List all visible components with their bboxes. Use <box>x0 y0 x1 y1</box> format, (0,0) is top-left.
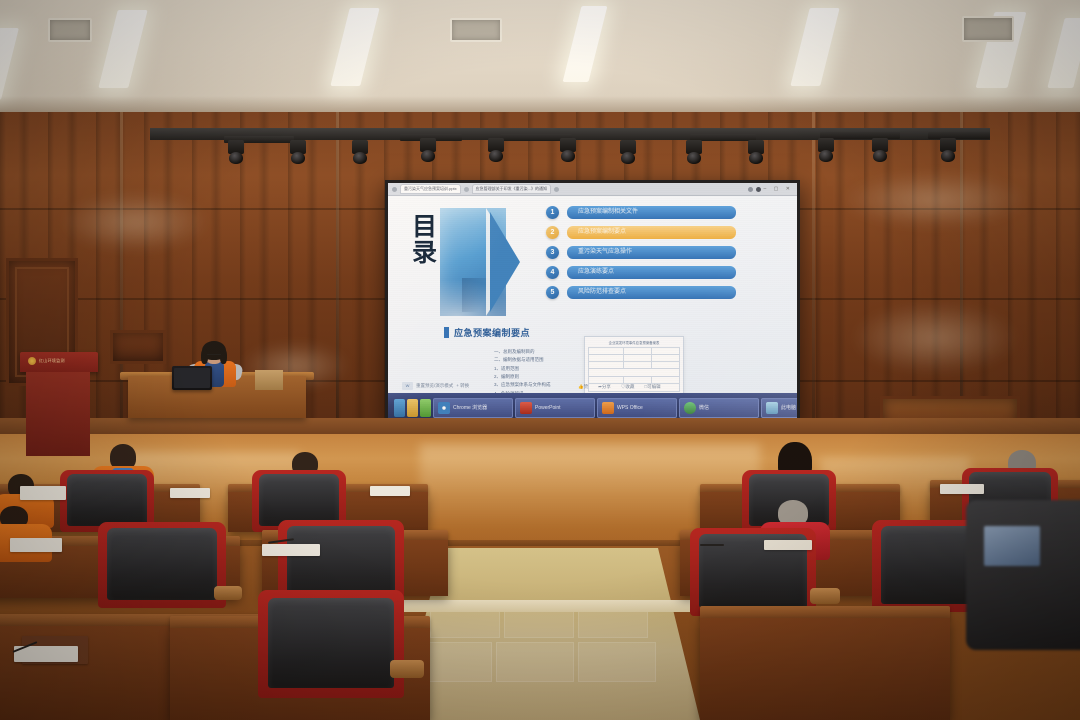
stage-spotlight <box>290 140 306 154</box>
browser-toolbar: 重污染天气应急预案培训.pptx 应急管理部关于印发《重污染...》的通知 – … <box>388 183 797 196</box>
toc-list: 1 应急预案编制相关文件 2 应急预案编制要点 3 重污染天气应急操作 4 应急… <box>546 206 736 306</box>
wps-icon <box>602 402 614 414</box>
document-sheet <box>170 488 210 498</box>
presenter-glasses <box>207 354 221 358</box>
podium-sign: 红山环境监测 <box>28 357 65 365</box>
cardboard-box <box>255 370 283 390</box>
toc-item-number: 1 <box>546 206 559 219</box>
stage-spotlight <box>488 138 504 152</box>
toc-item-label: 应急预案编制相关文件 <box>567 206 736 219</box>
powerpoint-icon <box>520 402 532 414</box>
thumbs-up-icon[interactable]: 👍赞 <box>578 384 588 390</box>
stage-spotlight <box>748 140 764 154</box>
screen-content: 重污染天气应急预案培训.pptx 应急管理部关于印发《重污染...》的通知 – … <box>388 183 797 419</box>
video-camera <box>966 500 1080 650</box>
document-sheet <box>20 486 66 500</box>
explorer-icon <box>766 402 778 414</box>
stage-spotlight <box>818 138 834 152</box>
conference-room-scene: 重污染天气应急预案培训.pptx 应急管理部关于印发《重污染...》的通知 – … <box>0 0 1080 720</box>
document-sheet <box>10 538 62 552</box>
window-controls[interactable]: – ▢ ✕ <box>764 186 793 192</box>
windows-taskbar: Chrome 浏览器 PowerPoint WPS Office 微信 此电脑 <box>388 393 797 419</box>
taskbar-window-label: 此电脑 <box>781 404 796 411</box>
ceiling-light <box>98 10 147 88</box>
presenter-hair-side <box>220 349 227 364</box>
aisle-threshold <box>404 600 696 612</box>
presenter-laptop <box>172 366 212 390</box>
toc-item-number: 2 <box>546 226 559 239</box>
led-projection-screen: 重污染天气应急预案培训.pptx 应急管理部关于印发《重污染...》的通知 – … <box>385 180 800 422</box>
spotlight-bar <box>928 132 990 139</box>
ie-icon[interactable] <box>394 399 405 417</box>
taskbar-window-label: PowerPoint <box>535 405 561 411</box>
hvac-vent-icon <box>450 18 502 42</box>
bullet-item: 1、适用范围 <box>494 365 551 373</box>
ceiling-light <box>330 8 379 86</box>
browser-tab-2[interactable]: 应急管理部关于印发《重污染...》的通知 <box>472 184 551 194</box>
slide-section-heading: 应急预案编制要点 <box>444 326 530 339</box>
fullscreen-icon[interactable]: □可编辑 <box>644 384 660 390</box>
browser-tab-2-label: 应急管理部关于印发《重污染...》的通知 <box>476 186 547 192</box>
stage-spotlight <box>686 140 702 154</box>
reaction-bar: 👍赞 ➦分享 ♡收藏 □可编辑 <box>578 384 661 390</box>
national-emblem-icon <box>28 357 36 365</box>
taskbar-window-label: WPS Office <box>617 405 643 411</box>
wechat-icon <box>684 402 696 414</box>
notepad <box>262 544 320 556</box>
bullet-item: 一、总则及编制目的 <box>494 348 551 356</box>
taskbar-window-wechat[interactable]: 微信 <box>679 398 759 418</box>
toc-item-number: 5 <box>546 286 559 299</box>
podium-top: 红山环境监测 <box>20 352 98 372</box>
audience-chair[interactable] <box>98 522 226 608</box>
document-sheet <box>940 484 984 494</box>
taskbar-window-chrome[interactable]: Chrome 浏览器 <box>433 398 513 418</box>
taskbar-window-explorer[interactable]: 此电脑 <box>761 398 797 418</box>
podium-body <box>26 372 90 456</box>
taskbar-window-label: Chrome 浏览器 <box>453 404 487 411</box>
tab-close-icon[interactable] <box>464 187 469 192</box>
presentation-slide: 目录 1 应急预案编制相关文件 2 应急预案编制要点 3 重污染天气应急操作 <box>388 196 797 393</box>
taskbar-window-wps[interactable]: WPS Office <box>597 398 677 418</box>
share-icon[interactable]: ➦分享 <box>598 384 611 390</box>
ceiling-light <box>563 6 608 82</box>
kebab-menu-icon[interactable] <box>756 187 761 192</box>
browser-tab-1[interactable]: 重污染天气应急预案培训.pptx <box>400 184 461 194</box>
toc-item[interactable]: 4 应急演练要点 <box>546 266 736 279</box>
toc-item-label: 风险防范排查要点 <box>567 286 736 299</box>
toc-arrow-graphic <box>440 208 532 316</box>
audience-chair[interactable] <box>258 590 404 698</box>
toc-item-number: 3 <box>546 246 559 259</box>
stage-spotlight <box>560 138 576 152</box>
quick-launch-bar <box>394 399 431 417</box>
wps-badge: W <box>402 382 413 390</box>
toc-item[interactable]: 2 应急预案编制要点 <box>546 226 736 239</box>
podium-sign-text: 红山环境监测 <box>39 358 65 364</box>
toc-title: 目录 <box>402 214 448 267</box>
taskbar-window-label: 微信 <box>699 404 709 411</box>
hvac-vent-icon <box>962 16 1014 42</box>
folder-icon[interactable] <box>407 399 418 417</box>
stage-spotlight <box>352 140 368 154</box>
chrome-icon <box>438 402 450 414</box>
stage-spotlight <box>620 140 636 154</box>
ceiling-light <box>1047 18 1080 88</box>
wps-tag-label: 重置预览/演示模式 <box>416 383 453 389</box>
stage-spotlight <box>872 138 888 152</box>
camera-display <box>984 526 1040 566</box>
toc-item-label: 应急预案编制要点 <box>567 226 736 239</box>
audience-desk <box>700 618 950 720</box>
puzzle-icon[interactable] <box>748 187 753 192</box>
toc-item-label: 应急演练要点 <box>567 266 736 279</box>
pen <box>700 544 724 546</box>
document-sheet <box>370 486 410 496</box>
wall-panel-left <box>110 330 166 364</box>
heart-icon[interactable]: ♡收藏 <box>621 384 635 390</box>
toc-item-number: 4 <box>546 266 559 279</box>
wps-status-tag: W 重置预览/演示模式 + 转换 <box>402 382 469 390</box>
media-icon[interactable] <box>420 399 431 417</box>
toc-item[interactable]: 5 风险防范排查要点 <box>546 286 736 299</box>
toc-item-label: 重污染天气应急操作 <box>567 246 736 259</box>
toc-item[interactable]: 3 重污染天气应急操作 <box>546 246 736 259</box>
podium: 红山环境监测 <box>20 352 98 456</box>
chair-armrest <box>810 588 840 604</box>
new-tab-icon[interactable] <box>554 187 559 192</box>
ceiling-light <box>0 28 19 100</box>
wps-tag-extra: + 转换 <box>456 383 469 389</box>
stage-spotlight <box>940 138 956 152</box>
browser-back-icon[interactable] <box>392 187 397 192</box>
bullet-item: 3、应急预案体系与文件构成 <box>494 381 551 389</box>
stage-spotlight <box>420 138 436 152</box>
ceiling-light <box>790 8 839 86</box>
browser-tab-1-label: 重污染天气应急预案培训.pptx <box>404 186 457 192</box>
heading-tick-icon <box>444 327 449 338</box>
document-title: 企业突发环境事件应急预案备案表 <box>588 340 680 345</box>
chair-armrest <box>214 586 242 600</box>
stage-spotlight <box>228 140 244 154</box>
toc-item[interactable]: 1 应急预案编制相关文件 <box>546 206 736 219</box>
bullet-item: 2、编制原则 <box>494 373 551 381</box>
bullet-item: 二、编制依据与适用范围 <box>494 356 551 364</box>
chair-armrest <box>390 660 424 678</box>
notepad <box>764 540 812 550</box>
hvac-vent-icon <box>48 18 92 42</box>
taskbar-window-powerpoint[interactable]: PowerPoint <box>515 398 595 418</box>
ceiling <box>0 0 1080 118</box>
